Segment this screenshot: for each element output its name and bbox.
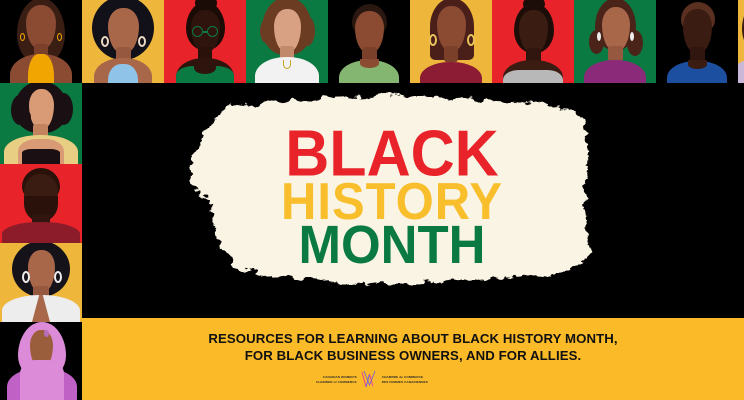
portrait-tile-14 [0,322,82,400]
black-history-month-poster: BLACK HISTORY MONTH RESOURCES FOR LEARNI… [0,0,744,400]
portrait-tile-5 [328,0,410,83]
headline-group: BLACK HISTORY MONTH [176,88,608,300]
face-icon [26,5,56,49]
torso-icon [420,62,482,83]
portrait-tile-11 [0,83,82,164]
neck-icon [444,46,458,62]
portrait-tile-7 [492,0,574,83]
necklace-icon [283,60,291,69]
w-monogram-icon [361,370,378,389]
earring-icon [57,33,62,41]
portrait-tile-13 [0,243,82,322]
logo-french-line-2: DES FEMMES CANADIENNES [382,380,428,385]
shirt-icon [503,70,563,83]
glasses-bridge-icon [203,31,208,33]
portrait-tile-10 [738,0,744,83]
earring-icon [54,111,62,123]
earring-icon [138,36,146,47]
collar-icon [360,59,379,68]
torso-icon [2,222,80,243]
portrait-tile-2 [82,0,164,83]
collar-icon [688,60,707,69]
top-portrait-strip [0,0,744,83]
logo-text-english: CANADIAN WOMEN'S CHAMBER of COMMERCE [316,375,357,384]
portrait-tile-12 [0,164,82,243]
banner-line-2: FOR BLACK BUSINESS OWNERS, AND FOR ALLIE… [208,347,617,364]
portrait-tile-9 [656,0,738,83]
earring-icon [22,271,30,283]
earring-icon [429,34,437,46]
portrait-tile-4 [246,0,328,83]
neck-icon [608,46,623,61]
portrait-tile-8 [574,0,656,83]
logo-english-line-2: CHAMBER of COMMERCE [316,380,357,385]
left-portrait-column [0,83,82,400]
earring-icon [20,33,25,41]
earring-icon [597,32,601,41]
portrait-tile-6 [410,0,492,83]
glasses-icon [192,26,203,37]
hijab-drape-icon [20,360,64,400]
earring-icon [23,111,31,123]
hijab-fold-icon [44,330,49,337]
earring-icon [467,34,475,46]
logo-text-french: CHAMBRE de COMMERCE DES FEMMES CANADIENN… [382,375,428,384]
cwcc-logo[interactable]: CANADIAN WOMEN'S CHAMBER of COMMERCE CHA… [316,370,428,389]
paint-splash-headline: BLACK HISTORY MONTH [176,88,608,300]
portrait-tile-1 [0,0,82,83]
earring-icon [101,36,109,47]
face-icon [29,89,54,129]
curl-icon [299,16,315,46]
torso-icon [584,60,646,83]
earring-icon [54,271,62,283]
torso-icon [738,58,744,83]
earring-icon [630,32,634,41]
banner-text: RESOURCES FOR LEARNING ABOUT BLACK HISTO… [208,330,617,365]
logo-english-line-1: CANADIAN WOMEN'S [316,375,357,380]
face-icon [519,10,548,53]
logo-french-line-1: CHAMBRE de COMMERCE [382,375,428,380]
face-icon [437,6,466,51]
portrait-tile-3 [164,0,246,83]
headline-month: MONTH [299,220,486,270]
banner-line-1: RESOURCES FOR LEARNING ABOUT BLACK HISTO… [208,330,617,347]
glasses-icon [207,26,218,37]
face-icon [602,7,630,51]
shirt-icon [28,54,54,83]
dress-top-icon [22,149,60,164]
collar-icon [194,62,216,74]
